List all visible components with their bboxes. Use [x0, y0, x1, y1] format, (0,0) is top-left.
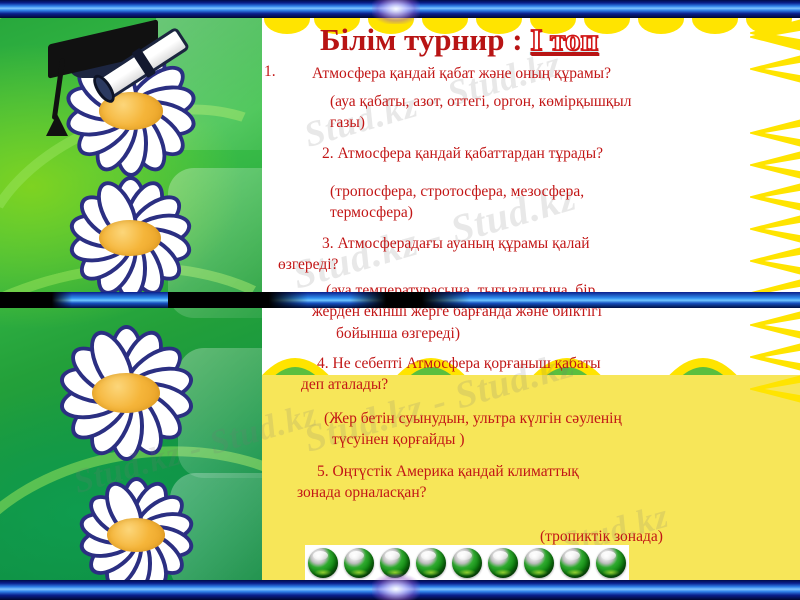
sphere-highlight — [601, 551, 616, 560]
bottom-border-band — [0, 580, 800, 600]
sphere-bottom-glow — [602, 569, 620, 576]
daisy-flower-icon — [18, 315, 234, 470]
question-text-4: 4. Не себепті Атмосфера қорғаныш қабаты … — [317, 353, 787, 396]
question-number-1: 1. — [264, 63, 276, 81]
sphere-bottom-glow — [458, 569, 476, 576]
sphere-bottom-glow — [494, 569, 512, 576]
title-main: Білім турнир — [320, 22, 505, 57]
question-text-3: 3. Атмосферадағы ауаның құрамы қалай өзг… — [322, 233, 792, 276]
slide-title: Білім турнир : I топ — [320, 22, 780, 58]
sparkle-decor — [372, 0, 420, 24]
question-text-2: 2. Атмосфера қандай қабаттардан тұрады? — [322, 143, 792, 164]
green-sphere-icon[interactable] — [416, 548, 446, 578]
daisy-center — [92, 373, 160, 413]
green-sphere-icon[interactable] — [344, 548, 374, 578]
sphere-tile[interactable] — [557, 545, 593, 581]
daisy-flower-icon — [30, 165, 230, 310]
sphere-highlight — [565, 551, 580, 560]
blue-divider-stripe — [0, 292, 800, 308]
sphere-highlight — [349, 551, 364, 560]
presentation-slide: Stud.kz - Stud.kz Stud.kz - Stud.kz Stud… — [0, 0, 800, 600]
sphere-bottom-glow — [314, 569, 332, 576]
sphere-bottom-glow — [566, 569, 584, 576]
daisy-center — [107, 518, 165, 552]
green-sphere-icon[interactable] — [596, 548, 626, 578]
answer-text-1: (ауа қабаты, азот, оттегі, оргон, көмірқ… — [330, 91, 790, 134]
question-text-1: Атмосфера қандай қабат және оның құрамы? — [312, 63, 782, 84]
title-colon: : — [505, 22, 531, 57]
sparkle-decor — [372, 574, 420, 600]
answer-text-4: (Жер бетін суынудын, ультра күлгін сәуле… — [324, 408, 794, 451]
sphere-tile[interactable] — [485, 545, 521, 581]
sphere-highlight — [529, 551, 544, 560]
green-sphere-icon[interactable] — [524, 548, 554, 578]
answer-text-3: (ауа температурасына, тығыздығына, бір ж… — [326, 280, 796, 344]
sphere-tile[interactable] — [305, 545, 341, 581]
sphere-bottom-glow — [530, 569, 548, 576]
sphere-highlight — [385, 551, 400, 560]
sphere-tile[interactable] — [521, 545, 557, 581]
sphere-button-row — [305, 545, 629, 581]
sphere-highlight — [313, 551, 328, 560]
sphere-highlight — [493, 551, 508, 560]
top-border-band — [0, 0, 800, 18]
green-sphere-icon[interactable] — [308, 548, 338, 578]
green-sphere-icon[interactable] — [488, 548, 518, 578]
sphere-bottom-glow — [350, 569, 368, 576]
title-accent: I топ — [530, 22, 598, 57]
answer-text-2: (тропосфера, стротосфера, мезосфера, тер… — [330, 181, 790, 224]
sphere-highlight — [421, 551, 436, 560]
sphere-bottom-glow — [422, 569, 440, 576]
question-text-5: 5. Оңтүстік Америка қандай климаттық зон… — [317, 461, 787, 504]
sphere-tile[interactable] — [449, 545, 485, 581]
sphere-highlight — [457, 551, 472, 560]
daisy-center — [99, 220, 161, 256]
sphere-tile[interactable] — [593, 545, 629, 581]
green-sphere-icon[interactable] — [452, 548, 482, 578]
green-sphere-icon[interactable] — [560, 548, 590, 578]
